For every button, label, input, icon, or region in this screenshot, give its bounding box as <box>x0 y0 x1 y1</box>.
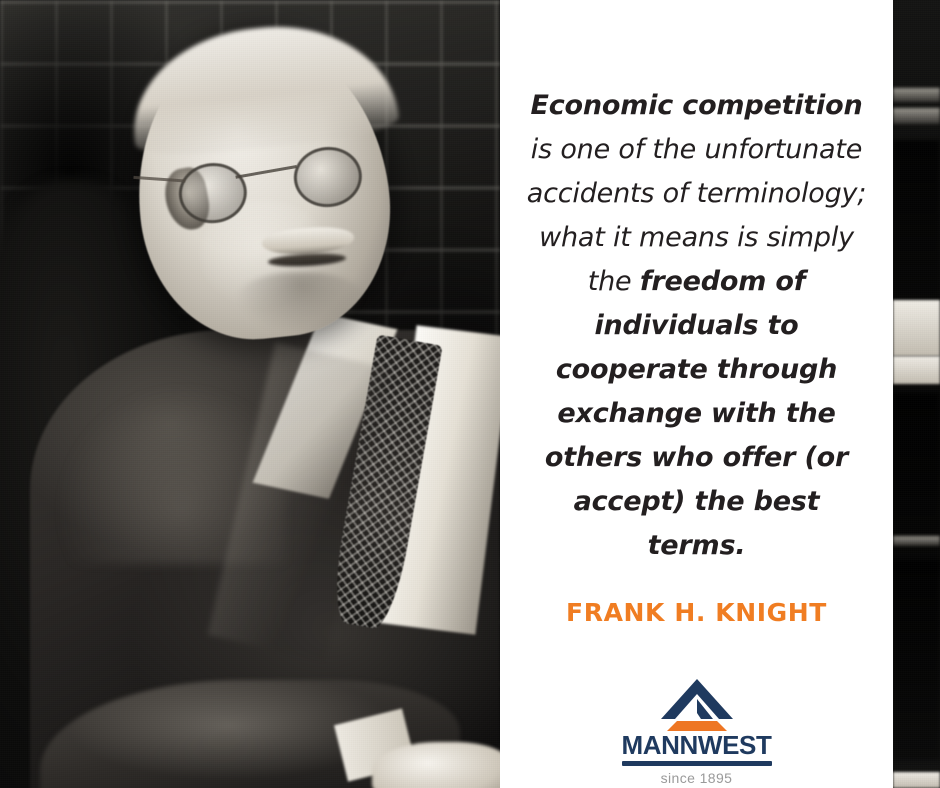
quote-attribution: FRANK H. KNIGHT <box>566 598 827 627</box>
quote-line-9: others who offer (or <box>545 442 848 473</box>
quote-line-6: individuals to <box>594 310 798 341</box>
strip-shelf-highlight-2 <box>893 108 940 124</box>
quote-line-2: is one of the unfortunate <box>531 134 862 165</box>
quote-line-11: terms. <box>648 530 746 561</box>
quote-line-8: exchange with the <box>557 398 835 429</box>
portrait-photo <box>0 0 500 788</box>
quote-line-7: cooperate through <box>556 354 837 385</box>
strip-papers-1 <box>893 300 940 356</box>
photo-right-strip <box>893 0 940 788</box>
orange-base-trapezoid <box>667 721 727 731</box>
quote-line-4: what it means is simply <box>539 222 854 253</box>
strip-shelf-highlight-1 <box>893 88 940 102</box>
logo-tagline: since 1895 <box>661 771 733 786</box>
quote-line-5-prefix: the <box>588 266 640 297</box>
strip-desk-edge <box>893 536 940 546</box>
quote-text: Economic competition is one of the unfor… <box>527 84 867 568</box>
mannwest-logo[interactable]: MANNWEST since 1895 mannwest.com <box>597 679 797 788</box>
strip-bottom-highlight <box>893 772 940 788</box>
chin-shadow <box>236 272 366 334</box>
right-lens <box>291 144 364 210</box>
quote-line-1: Economic competition <box>531 90 863 121</box>
logo-underline-rule <box>622 761 772 766</box>
quote-panel: Economic competition is one of the unfor… <box>500 0 893 788</box>
mountain-peak-icon <box>645 679 749 731</box>
strip-shadow-3 <box>893 560 940 760</box>
glasses-bridge <box>235 165 297 179</box>
strip-shadow-1 <box>893 140 940 300</box>
quote-graphic-canvas: Economic competition is one of the unfor… <box>0 0 940 788</box>
quote-line-3: accidents of terminology; <box>527 178 866 209</box>
logo-wordmark: MANNWEST <box>622 732 772 758</box>
strip-papers-2 <box>893 356 940 384</box>
quote-line-5-bold: freedom of <box>640 266 805 297</box>
quote-line-10: accept) the best <box>574 486 820 517</box>
